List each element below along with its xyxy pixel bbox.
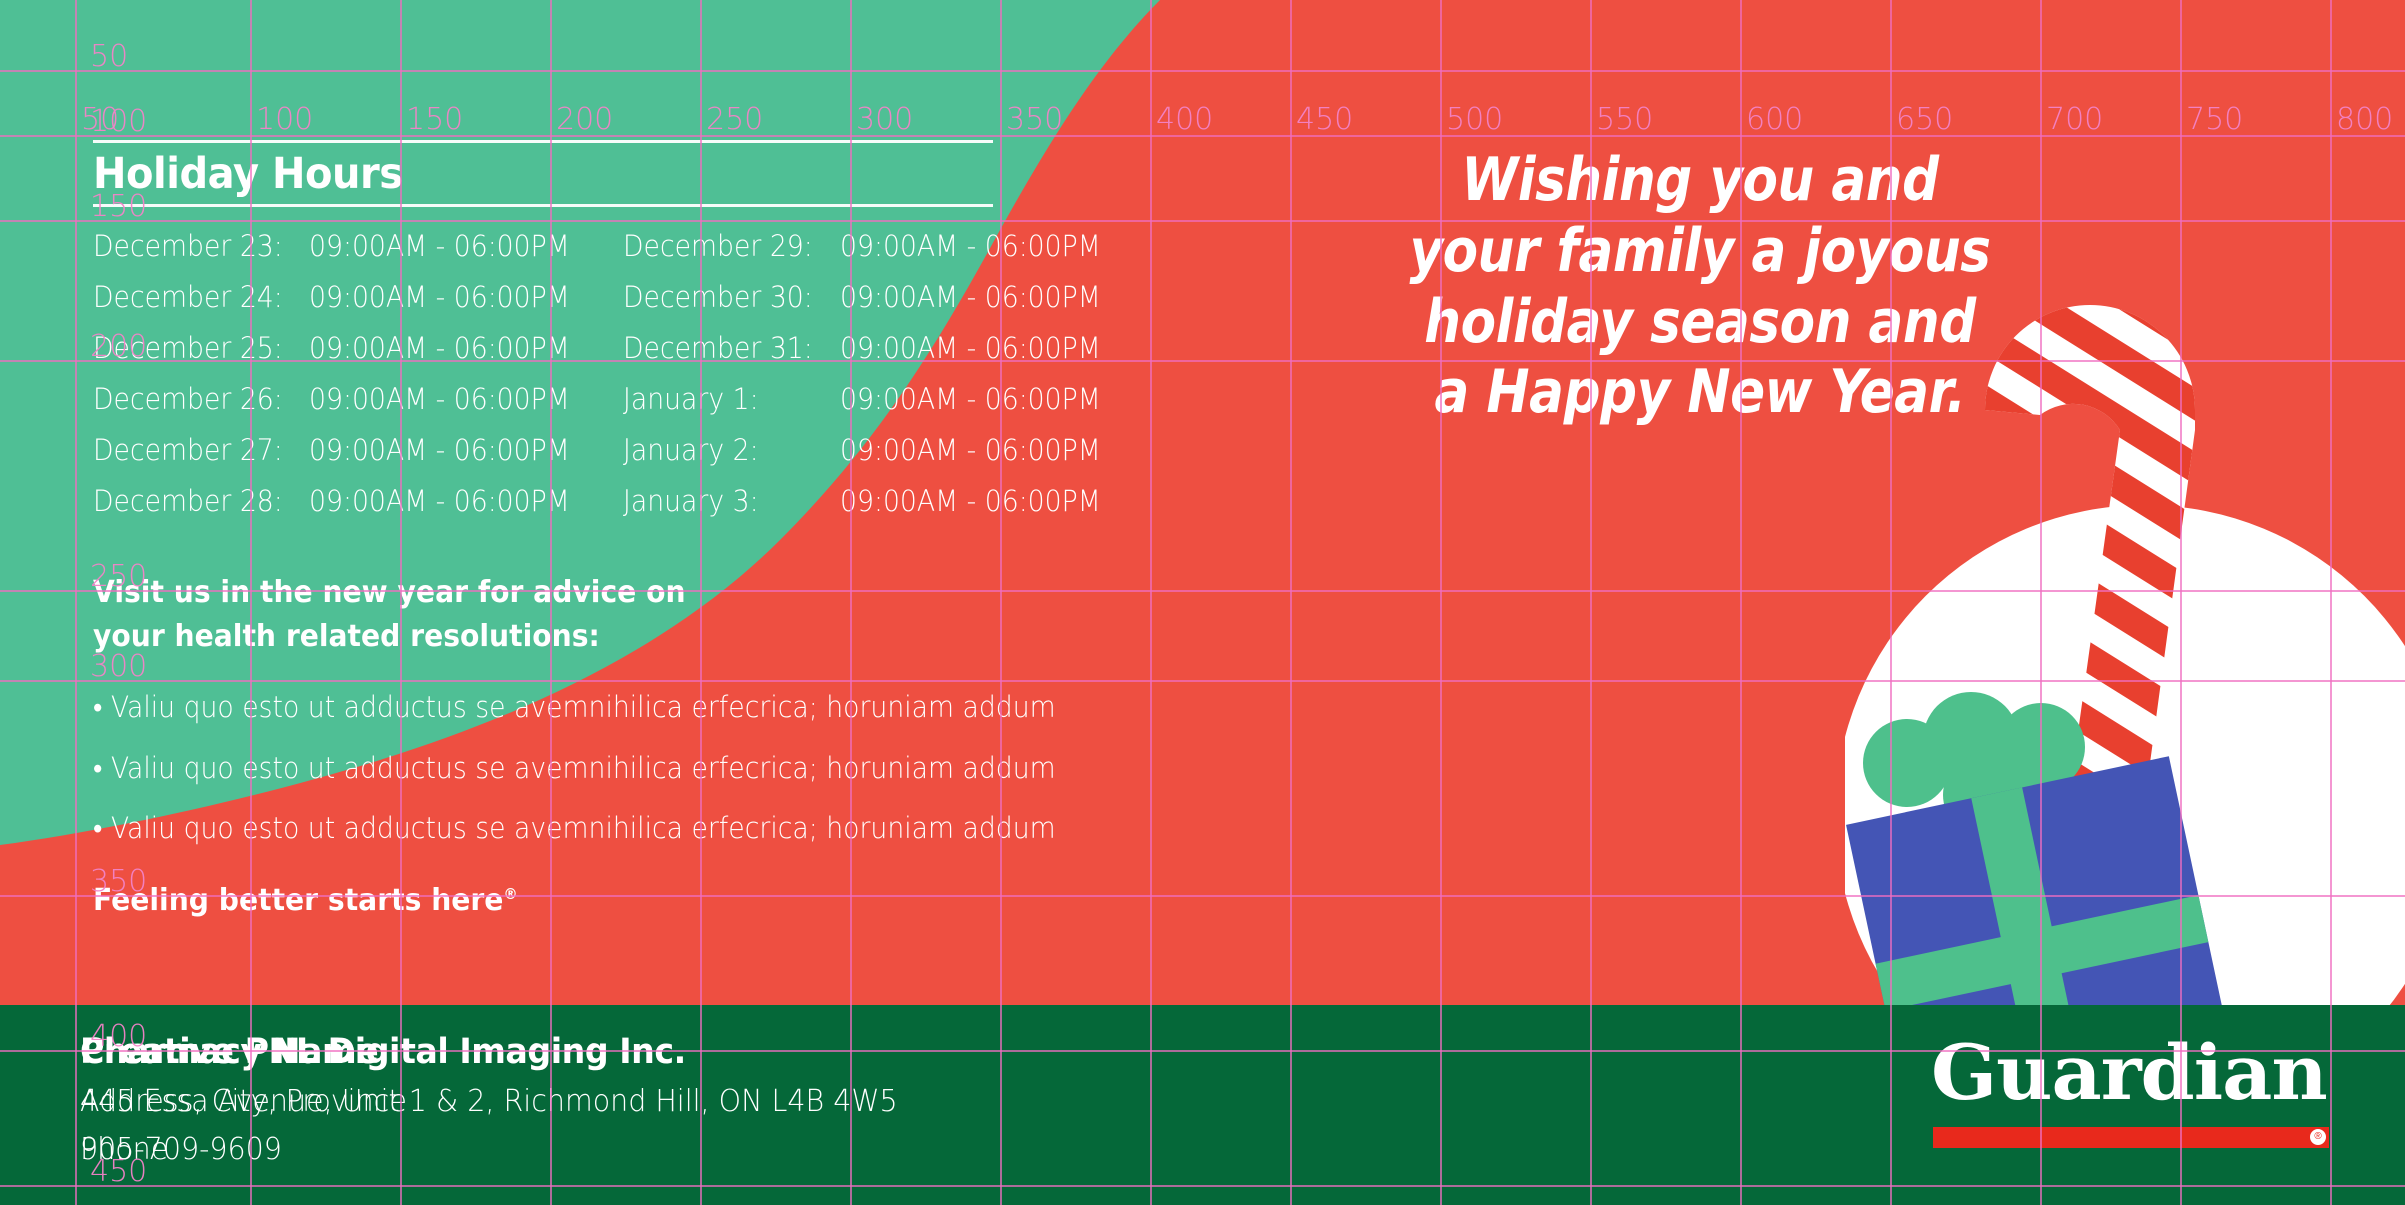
hours-time: 09:00AM - 06:00PM [309, 229, 622, 280]
grid-tick-label-x: 550 [1596, 105, 1653, 135]
holiday-hours-table: December 23: 09:00AM - 06:00PM December … [93, 229, 1153, 535]
registered-trademark-icon: ® [503, 885, 517, 903]
hours-day-2: December 29: [623, 229, 839, 280]
registered-mark-icon: ® [2310, 1129, 2326, 1145]
hours-title: Holiday Hours [93, 152, 1079, 197]
hours-day: December 24: [93, 280, 309, 331]
hours-day-2: January 1: [623, 382, 839, 433]
visit-heading: Visit us in the new year for advice on y… [93, 571, 1089, 658]
divider-bottom [93, 204, 993, 207]
grid-tick-label-x: 600 [1746, 105, 1803, 135]
brand-tagline: Feeling better starts here® [93, 883, 1089, 918]
list-item: • Valiu quo esto ut adductus se avemnihi… [93, 811, 1153, 846]
guardian-logo: Guardian ® [1931, 1035, 2331, 1150]
visit-heading-line-1: Visit us in the new year for advice on [93, 571, 1089, 615]
hours-time-2: 09:00AM - 06:00PM [840, 280, 1153, 331]
hours-time: 09:00AM - 06:00PM [309, 433, 622, 484]
grid-tick-label-x: 450 [1296, 105, 1353, 135]
grid-tick-label-x: 750 [2186, 105, 2243, 135]
holiday-illustration [1845, 255, 2405, 1015]
hours-day-2: January 2: [623, 433, 839, 484]
grid-tick-label-x: 800 [2336, 105, 2393, 135]
footer-phone: 905-709-9609 [80, 1135, 282, 1165]
hours-day-2: December 31: [623, 331, 839, 382]
table-row: December 28: 09:00AM - 06:00PM January 3… [93, 484, 1153, 535]
hours-day-2: January 3: [623, 484, 839, 535]
hours-day: December 25: [93, 331, 309, 382]
hours-time-2: 09:00AM - 06:00PM [840, 229, 1153, 280]
holiday-card-canvas: Wishing you and your family a joyous hol… [0, 0, 2405, 1205]
hours-time: 09:00AM - 06:00PM [309, 280, 622, 331]
table-row: December 24: 09:00AM - 06:00PM December … [93, 280, 1153, 331]
footer-actual-layer: Creative PNL Digital Imaging Inc. 445 Es… [80, 1035, 1480, 1070]
left-content-block: Holiday Hours December 23: 09:00AM - 06:… [93, 140, 1153, 918]
footer-pharmacy-name: Creative PNL Digital Imaging Inc. [80, 1035, 1410, 1070]
hours-time-2: 09:00AM - 06:00PM [840, 382, 1153, 433]
footer-text-stack: Pharmacy Name Address, City, Province Ph… [80, 1035, 1480, 1175]
guardian-wordmark: Guardian [1931, 1035, 2339, 1111]
divider-top [93, 140, 993, 143]
hours-time-2: 09:00AM - 06:00PM [840, 331, 1153, 382]
hours-day: December 27: [93, 433, 309, 484]
guardian-red-bar [1933, 1127, 2329, 1148]
visit-heading-line-2: your health related resolutions: [93, 615, 1089, 659]
table-row: December 23: 09:00AM - 06:00PM December … [93, 229, 1153, 280]
grid-tick-label-x: 500 [1446, 105, 1503, 135]
hours-day-2: December 30: [623, 280, 839, 331]
list-item: • Valiu quo esto ut adductus se avemnihi… [93, 690, 1153, 725]
hours-day: December 26: [93, 382, 309, 433]
footer-address: 445 Essa Avenue, Unit 1 & 2, Richmond Hi… [80, 1087, 898, 1117]
table-row: December 27: 09:00AM - 06:00PM January 2… [93, 433, 1153, 484]
bullet-list: • Valiu quo esto ut adductus se avemnihi… [93, 690, 1153, 846]
hours-time: 09:00AM - 06:00PM [309, 331, 622, 382]
message-line-1: Wishing you and [1382, 145, 2018, 216]
hours-time: 09:00AM - 06:00PM [309, 484, 622, 535]
list-item: • Valiu quo esto ut adductus se avemnihi… [93, 751, 1153, 786]
hours-time-2: 09:00AM - 06:00PM [840, 484, 1153, 535]
table-row: December 25: 09:00AM - 06:00PM December … [93, 331, 1153, 382]
grid-tick-label-x: 650 [1896, 105, 1953, 135]
hours-day: December 23: [93, 229, 309, 280]
table-row: December 26: 09:00AM - 06:00PM January 1… [93, 382, 1153, 433]
hours-day: December 28: [93, 484, 309, 535]
grid-tick-label-x: 700 [2046, 105, 2103, 135]
tagline-text: Feeling better starts here [93, 883, 503, 918]
hours-time-2: 09:00AM - 06:00PM [840, 433, 1153, 484]
hours-time: 09:00AM - 06:00PM [309, 382, 622, 433]
